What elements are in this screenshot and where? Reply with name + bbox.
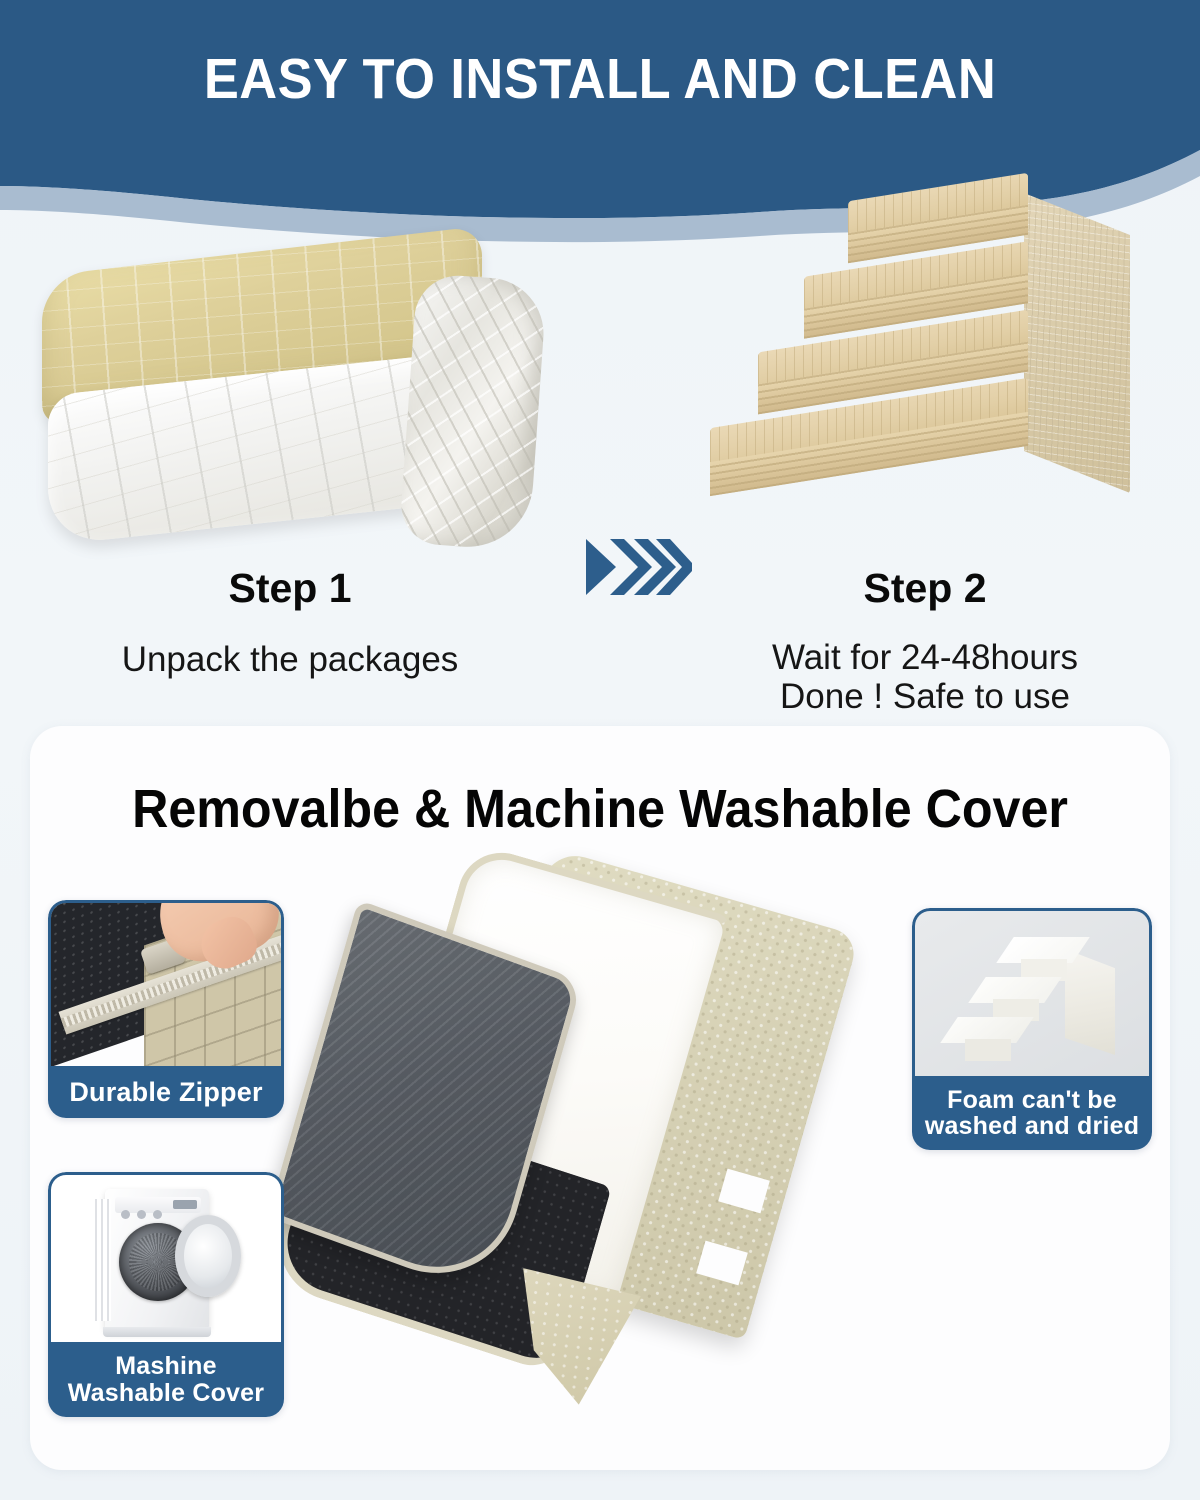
hero-product-image [292,874,932,1454]
step-1-caption: Unpack the packages [10,640,570,679]
hand-pulling-zipper-photo [48,900,284,1066]
page-title: EASY TO INSTALL AND CLEAN [48,46,1152,112]
step-1-image [10,195,570,565]
step-1-label: Step 1 [10,565,570,612]
feature-label-line-1: Mashine [115,1353,216,1379]
section-title: Removalbe & Machine Washable Cover [70,778,1130,840]
feature-label-line-2: Washable Cover [68,1380,264,1406]
feature-label-line-2: washed and dried [925,1113,1139,1139]
feature-card-machine-washable: Mashine Washable Cover [48,1172,284,1417]
front-load-washing-machine-photo [48,1172,284,1342]
vacuum-packed-foam-roll-illustration [30,225,550,555]
washing-machine-icon [91,1187,247,1335]
foam-side-face [1065,949,1115,1055]
feature-label-machine-washable: Mashine Washable Cover [48,1342,284,1417]
feature-card-durable-zipper: Durable Zipper [48,900,284,1118]
feature-label-text: Durable Zipper [69,1078,262,1106]
feature-label-durable-zipper: Durable Zipper [48,1066,284,1118]
washer-display [173,1200,197,1209]
foam-stair-block-illustration [943,937,1123,1059]
step-2-image [660,195,1190,565]
washer-side-ribs [91,1199,111,1321]
foam-front-1 [965,1039,1011,1061]
infographic-page: EASY TO INSTALL AND CLEAN Step 1 Unpack … [0,0,1200,1500]
step-2-caption-line-2: Done ! Safe to use [660,677,1190,716]
washer-knob-1 [121,1210,130,1219]
stairs-side-panel [1024,193,1130,493]
step-1-block: Step 1 Unpack the packages [10,195,570,679]
washable-cover-card: Removalbe & Machine Washable Cover [30,726,1170,1470]
step-2-caption-line-1: Wait for 24-48hours [660,638,1190,677]
washer-knob-3 [153,1210,162,1219]
feature-card-foam-not-washable: Foam can't be washed and dried [912,908,1152,1150]
wooden-pet-stairs-illustration [700,175,1130,535]
feature-label-line-1: Foam can't be [947,1087,1117,1113]
washer-knob-2 [137,1210,146,1219]
pack-plastic-end [399,273,548,551]
feature-label-foam-not-washable: Foam can't be washed and dried [912,1076,1152,1150]
steps-row: Step 1 Unpack the packages [0,195,1200,715]
step-2-label: Step 2 [660,565,1190,612]
washer-open-door [175,1215,241,1297]
white-foam-stair-block-photo [912,908,1152,1076]
washer-base [103,1327,211,1337]
step-2-block: Step 2 Wait for 24-48hours Done ! Safe t… [660,195,1190,716]
